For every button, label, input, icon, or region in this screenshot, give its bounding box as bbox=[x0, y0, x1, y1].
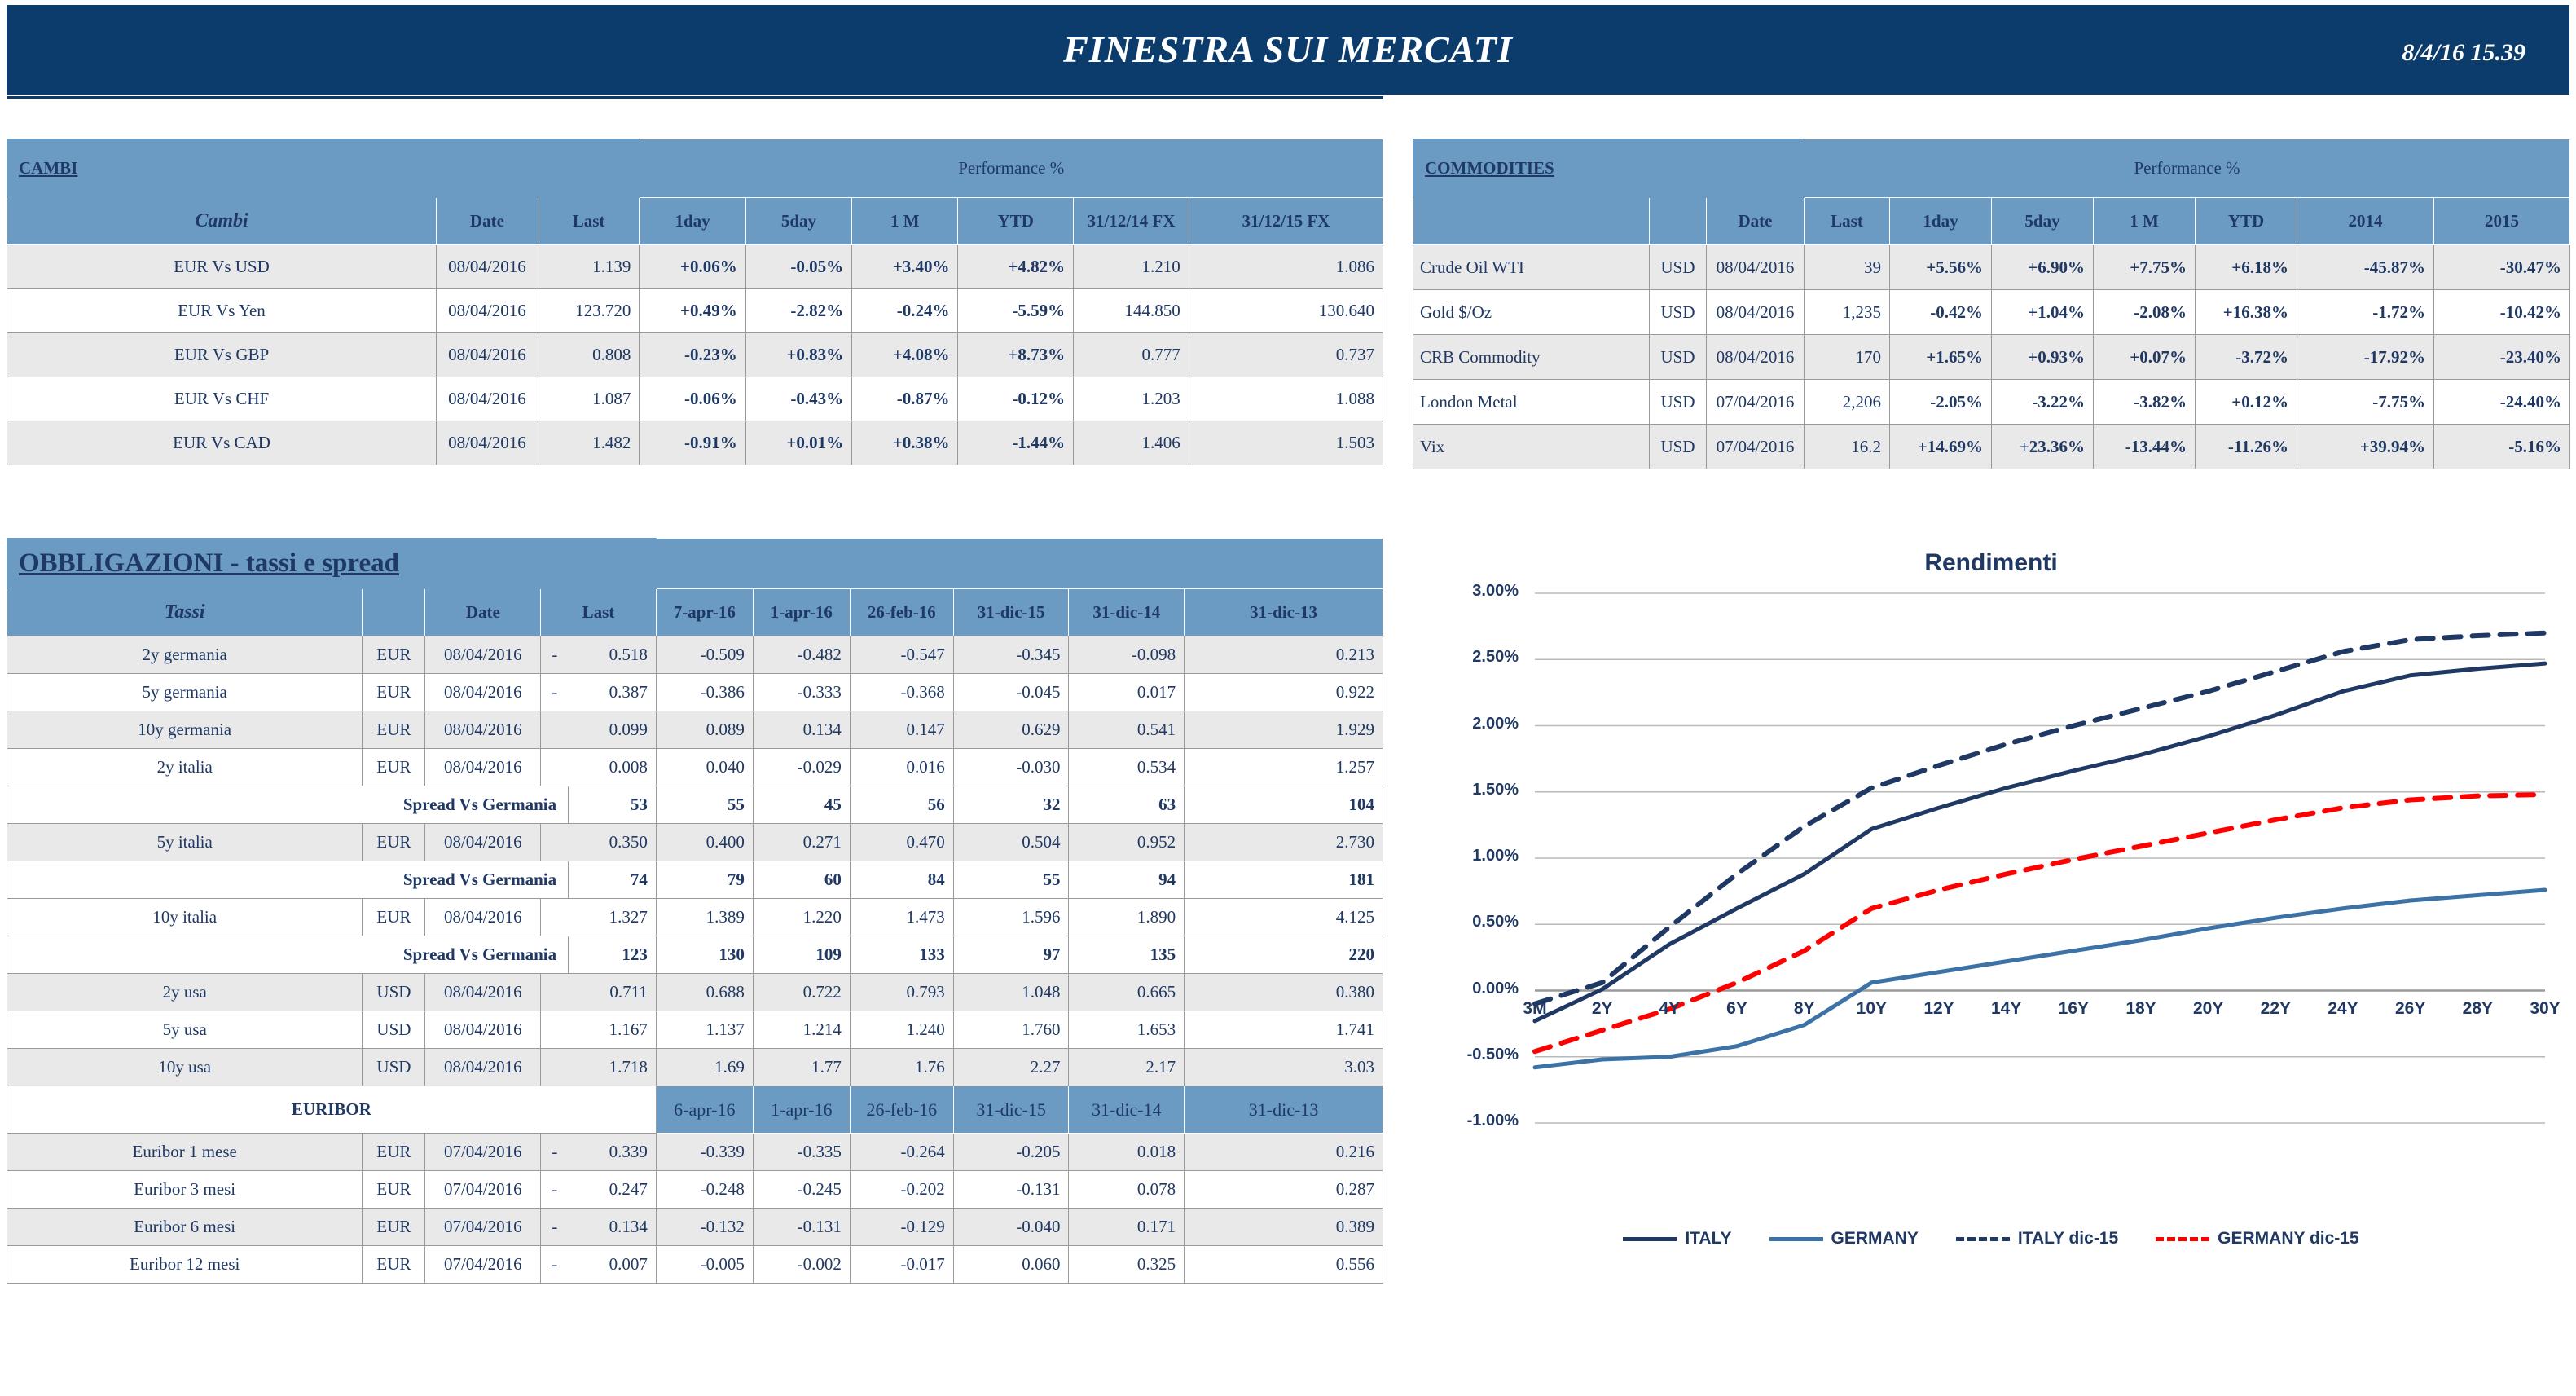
bond-name: 2y italia bbox=[7, 749, 363, 786]
bond-value-1: 0.400 bbox=[656, 824, 753, 861]
bond-value-1: 0.089 bbox=[656, 711, 753, 749]
commodities-performance-title: Performance % bbox=[1805, 139, 2570, 198]
bonds-table: OBBLIGAZIONI - tassi e spread Tassi Date… bbox=[7, 538, 1383, 1284]
bond-last: 0.387 bbox=[569, 674, 657, 711]
bond-name: 10y germania bbox=[7, 711, 363, 749]
bond-sign bbox=[541, 1049, 569, 1086]
cambi-perf-1m: +0.38% bbox=[852, 421, 958, 465]
bond-name: 10y usa bbox=[7, 1049, 363, 1086]
commodity-perf-1m: +0.07% bbox=[2094, 335, 2196, 380]
bond-value-6: 1.741 bbox=[1185, 1011, 1383, 1049]
bond-value-3: 1.240 bbox=[850, 1011, 953, 1049]
page-title: FINESTRA SUI MERCATI bbox=[8, 28, 2568, 71]
commodity-perf-5day: +1.04% bbox=[1992, 290, 2094, 335]
spread-value-1: 130 bbox=[656, 936, 753, 974]
bond-value-2: 1.214 bbox=[753, 1011, 850, 1049]
bond-value-6: 2.730 bbox=[1185, 824, 1383, 861]
spread-value-3: 84 bbox=[850, 861, 953, 899]
legend-swatch-icon bbox=[1623, 1237, 1677, 1241]
bond-value-4: 2.27 bbox=[953, 1049, 1069, 1086]
bond-value-6: 1.257 bbox=[1185, 749, 1383, 786]
table-row: Euribor 3 mesiEUR07/04/2016-0.247-0.248-… bbox=[7, 1171, 1383, 1209]
cambi-name: EUR Vs Yen bbox=[7, 289, 437, 333]
bond-value-3: 1.473 bbox=[850, 899, 953, 936]
bond-name: 5y usa bbox=[7, 1011, 363, 1049]
col-ytd: YTD bbox=[958, 198, 1074, 245]
chart-xtick: 2Y bbox=[1578, 999, 1627, 1019]
bond-value-3: 1.76 bbox=[850, 1049, 953, 1086]
euribor-value-4: -0.040 bbox=[953, 1209, 1069, 1246]
bond-date: 08/04/2016 bbox=[425, 824, 541, 861]
commodity-last: 39 bbox=[1805, 245, 1890, 290]
bond-value-4: 1.760 bbox=[953, 1011, 1069, 1049]
table-row: Euribor 1 meseEUR07/04/2016-0.339-0.339-… bbox=[7, 1134, 1383, 1171]
bond-value-5: 2.17 bbox=[1069, 1049, 1185, 1086]
commodity-perf-1day: -2.05% bbox=[1890, 380, 1992, 425]
bond-value-1: -0.509 bbox=[656, 636, 753, 674]
spread-value-4: 55 bbox=[953, 861, 1069, 899]
table-row: 2y usaUSD08/04/20160.7110.6880.7220.7931… bbox=[7, 974, 1383, 1011]
cambi-fx14: 0.777 bbox=[1074, 333, 1189, 377]
banner-divider bbox=[7, 96, 1383, 99]
bond-date: 08/04/2016 bbox=[425, 674, 541, 711]
spread-value-2: 60 bbox=[753, 861, 850, 899]
col-31dic13: 31-dic-13 bbox=[1185, 589, 1383, 636]
commodity-perf-ytd: +0.12% bbox=[2196, 380, 2297, 425]
euribor-sign: - bbox=[541, 1246, 569, 1284]
commodity-name: Vix bbox=[1413, 425, 1650, 469]
table-row: EUR Vs CAD08/04/20161.482-0.91%+0.01%+0.… bbox=[7, 421, 1383, 465]
cambi-perf-ytd: +8.73% bbox=[958, 333, 1074, 377]
bond-value-1: 1.137 bbox=[656, 1011, 753, 1049]
cambi-perf-1day: -0.91% bbox=[640, 421, 745, 465]
euribor-value-4: -0.131 bbox=[953, 1171, 1069, 1209]
commodity-perf-1m: +7.75% bbox=[2094, 245, 2196, 290]
bond-value-6: 0.922 bbox=[1185, 674, 1383, 711]
table-row: 5y italiaEUR08/04/20160.3500.4000.2710.4… bbox=[7, 824, 1383, 861]
bond-value-1: 1.69 bbox=[656, 1049, 753, 1086]
euribor-value-3: -0.129 bbox=[850, 1209, 953, 1246]
bond-value-3: 0.016 bbox=[850, 749, 953, 786]
legend-item: GERMANY bbox=[1769, 1229, 1919, 1248]
spread-last: 53 bbox=[569, 786, 657, 824]
cambi-section-title: CAMBI bbox=[7, 139, 640, 198]
bond-sign bbox=[541, 711, 569, 749]
bond-value-5: 0.665 bbox=[1069, 974, 1185, 1011]
bond-currency: EUR bbox=[363, 711, 425, 749]
euribor-value-2: -0.131 bbox=[753, 1209, 850, 1246]
bond-name: 2y germania bbox=[7, 636, 363, 674]
table-row: EUR Vs Yen08/04/2016123.720+0.49%-2.82%-… bbox=[7, 289, 1383, 333]
cambi-last: 1.087 bbox=[538, 377, 640, 421]
commodity-perf-1day: +1.65% bbox=[1890, 335, 1992, 380]
bond-value-2: -0.029 bbox=[753, 749, 850, 786]
euribor-currency: EUR bbox=[363, 1209, 425, 1246]
bond-last: 0.711 bbox=[569, 974, 657, 1011]
euribor-col-1: 6-apr-16 bbox=[656, 1086, 753, 1134]
bond-currency: USD bbox=[363, 974, 425, 1011]
commodity-currency: USD bbox=[1650, 335, 1707, 380]
commodity-last: 16.2 bbox=[1805, 425, 1890, 469]
commodity-perf-ytd: +6.18% bbox=[2196, 245, 2297, 290]
legend-swatch-icon bbox=[1956, 1237, 2010, 1241]
chart-xtick: 28Y bbox=[2453, 999, 2502, 1019]
euribor-sign: - bbox=[541, 1209, 569, 1246]
bond-date: 08/04/2016 bbox=[425, 974, 541, 1011]
bond-value-1: 0.040 bbox=[656, 749, 753, 786]
col-fx15: 31/12/15 FX bbox=[1189, 198, 1383, 245]
bond-value-5: 0.952 bbox=[1069, 824, 1185, 861]
col-5day: 5day bbox=[745, 198, 851, 245]
table-row: London MetalUSD07/04/20162,206-2.05%-3.2… bbox=[1413, 380, 2570, 425]
euribor-value-1: -0.005 bbox=[656, 1246, 753, 1284]
spread-value-3: 133 bbox=[850, 936, 953, 974]
euribor-col-5: 31-dic-14 bbox=[1069, 1086, 1185, 1134]
euribor-col-6: 31-dic-13 bbox=[1185, 1086, 1383, 1134]
commodity-name: London Metal bbox=[1413, 380, 1650, 425]
commodity-date: 07/04/2016 bbox=[1707, 425, 1805, 469]
spread-row: Spread Vs Germania535545563263104 bbox=[7, 786, 1383, 824]
cambi-name: EUR Vs GBP bbox=[7, 333, 437, 377]
commodity-perf-5day: -3.22% bbox=[1992, 380, 2094, 425]
bond-value-1: 0.688 bbox=[656, 974, 753, 1011]
spread-value-4: 97 bbox=[953, 936, 1069, 974]
commodity-perf-2014: -17.92% bbox=[2297, 335, 2434, 380]
spread-value-6: 220 bbox=[1185, 936, 1383, 974]
cambi-perf-1day: +0.49% bbox=[640, 289, 745, 333]
cambi-name: EUR Vs USD bbox=[7, 245, 437, 289]
bond-currency: EUR bbox=[363, 636, 425, 674]
chart-ytick: 2.00% bbox=[1421, 715, 1519, 733]
bond-date: 08/04/2016 bbox=[425, 636, 541, 674]
commodity-perf-2015: -24.40% bbox=[2434, 380, 2570, 425]
chart-series-italy bbox=[1535, 663, 2545, 1021]
commodity-currency: USD bbox=[1650, 245, 1707, 290]
bond-last: 1.167 bbox=[569, 1011, 657, 1049]
col-7apr16: 7-apr-16 bbox=[656, 589, 753, 636]
chart-series-italy-dic-15 bbox=[1535, 633, 2545, 1004]
bond-value-5: 0.534 bbox=[1069, 749, 1185, 786]
bond-value-4: 0.504 bbox=[953, 824, 1069, 861]
col-5day: 5day bbox=[1992, 198, 2094, 245]
spread-value-3: 56 bbox=[850, 786, 953, 824]
spread-label: Spread Vs Germania bbox=[7, 936, 569, 974]
bond-value-2: 0.271 bbox=[753, 824, 850, 861]
bond-date: 08/04/2016 bbox=[425, 711, 541, 749]
euribor-value-1: -0.339 bbox=[656, 1134, 753, 1171]
cambi-fx14: 1.203 bbox=[1074, 377, 1189, 421]
table-row: Euribor 12 mesiEUR07/04/2016-0.007-0.005… bbox=[7, 1246, 1383, 1284]
title-banner: FINESTRA SUI MERCATI 8/4/16 15.39 bbox=[7, 5, 2569, 95]
spread-value-2: 45 bbox=[753, 786, 850, 824]
bond-value-5: 1.653 bbox=[1069, 1011, 1185, 1049]
cambi-perf-1day: -0.23% bbox=[640, 333, 745, 377]
col-26feb16: 26-feb-16 bbox=[850, 589, 953, 636]
col-2014: 2014 bbox=[2297, 198, 2434, 245]
euribor-col-4: 31-dic-15 bbox=[953, 1086, 1069, 1134]
cambi-date: 08/04/2016 bbox=[437, 421, 538, 465]
cambi-last: 1.139 bbox=[538, 245, 640, 289]
commodity-perf-1m: -3.82% bbox=[2094, 380, 2196, 425]
col-last: Last bbox=[1805, 198, 1890, 245]
chart-xtick: 4Y bbox=[1645, 999, 1694, 1019]
euribor-value-3: -0.202 bbox=[850, 1171, 953, 1209]
cambi-name: EUR Vs CHF bbox=[7, 377, 437, 421]
bond-sign bbox=[541, 824, 569, 861]
chart-xtick: 26Y bbox=[2386, 999, 2435, 1019]
chart-ytick: 0.00% bbox=[1421, 980, 1519, 998]
cambi-fx15: 1.503 bbox=[1189, 421, 1383, 465]
chart-ytick: -1.00% bbox=[1421, 1112, 1519, 1130]
euribor-date: 07/04/2016 bbox=[425, 1171, 541, 1209]
spread-value-5: 94 bbox=[1069, 861, 1185, 899]
commodity-perf-1day: -0.42% bbox=[1890, 290, 1992, 335]
commodity-date: 08/04/2016 bbox=[1707, 245, 1805, 290]
spread-last: 74 bbox=[569, 861, 657, 899]
chart-ytick: 1.50% bbox=[1421, 781, 1519, 799]
bond-value-6: 3.03 bbox=[1185, 1049, 1383, 1086]
spread-label: Spread Vs Germania bbox=[7, 861, 569, 899]
commodity-perf-5day: +23.36% bbox=[1992, 425, 2094, 469]
euribor-value-6: 0.287 bbox=[1185, 1171, 1383, 1209]
cambi-perf-ytd: +4.82% bbox=[958, 245, 1074, 289]
bond-date: 08/04/2016 bbox=[425, 899, 541, 936]
bond-value-1: -0.386 bbox=[656, 674, 753, 711]
euribor-value-3: -0.264 bbox=[850, 1134, 953, 1171]
cambi-last: 0.808 bbox=[538, 333, 640, 377]
chart-legend: ITALYGERMANYITALY dic-15GERMANY dic-15 bbox=[1413, 1229, 2569, 1248]
legend-label: GERMANY dic-15 bbox=[2218, 1229, 2359, 1248]
bond-value-6: 4.125 bbox=[1185, 899, 1383, 936]
spread-label: Spread Vs Germania bbox=[7, 786, 569, 824]
euribor-name: Euribor 6 mesi bbox=[7, 1209, 363, 1246]
chart-svg bbox=[1413, 577, 2569, 1221]
bonds-section-title: OBBLIGAZIONI - tassi e spread bbox=[7, 539, 657, 589]
euribor-col-3: 26-feb-16 bbox=[850, 1086, 953, 1134]
table-row: EUR Vs GBP08/04/20160.808-0.23%+0.83%+4.… bbox=[7, 333, 1383, 377]
bond-currency: USD bbox=[363, 1011, 425, 1049]
bonds-column-headers: Tassi Date Last 7-apr-16 1-apr-16 26-feb… bbox=[7, 589, 1383, 636]
cambi-perf-5day: -0.43% bbox=[745, 377, 851, 421]
spread-value-2: 109 bbox=[753, 936, 850, 974]
col-date: Date bbox=[1707, 198, 1805, 245]
bond-value-6: 0.213 bbox=[1185, 636, 1383, 674]
bond-value-4: 1.048 bbox=[953, 974, 1069, 1011]
euribor-date: 07/04/2016 bbox=[425, 1246, 541, 1284]
legend-label: GERMANY bbox=[1831, 1229, 1919, 1248]
euribor-last: 0.134 bbox=[569, 1209, 657, 1246]
commodity-date: 07/04/2016 bbox=[1707, 380, 1805, 425]
cambi-table: CAMBI Performance % Cambi Date Last 1day… bbox=[7, 139, 1383, 465]
bond-currency: EUR bbox=[363, 749, 425, 786]
bond-last: 1.327 bbox=[569, 899, 657, 936]
col-1day: 1day bbox=[640, 198, 745, 245]
col-currency bbox=[363, 589, 425, 636]
table-row: 2y germaniaEUR08/04/2016-0.518-0.509-0.4… bbox=[7, 636, 1383, 674]
cambi-date: 08/04/2016 bbox=[437, 333, 538, 377]
euribor-last: 0.007 bbox=[569, 1246, 657, 1284]
bond-value-4: -0.345 bbox=[953, 636, 1069, 674]
commodity-currency: USD bbox=[1650, 290, 1707, 335]
euribor-name: Euribor 12 mesi bbox=[7, 1246, 363, 1284]
cambi-fx14: 1.210 bbox=[1074, 245, 1189, 289]
col-1apr16: 1-apr-16 bbox=[753, 589, 850, 636]
col-blank2 bbox=[1650, 198, 1707, 245]
commodity-perf-2015: -23.40% bbox=[2434, 335, 2570, 380]
euribor-value-6: 0.556 bbox=[1185, 1246, 1383, 1284]
commodity-perf-5day: +0.93% bbox=[1992, 335, 2094, 380]
bond-value-2: 1.220 bbox=[753, 899, 850, 936]
bond-value-4: 1.596 bbox=[953, 899, 1069, 936]
euribor-currency: EUR bbox=[363, 1171, 425, 1209]
bond-name: 10y italia bbox=[7, 899, 363, 936]
table-row: Gold $/OzUSD08/04/20161,235-0.42%+1.04%-… bbox=[1413, 290, 2570, 335]
bond-value-2: 0.722 bbox=[753, 974, 850, 1011]
cambi-perf-1day: +0.06% bbox=[640, 245, 745, 289]
spread-row: Spread Vs Germania747960845594181 bbox=[7, 861, 1383, 899]
col-blank1 bbox=[1413, 198, 1650, 245]
bond-value-2: 0.134 bbox=[753, 711, 850, 749]
commodity-perf-2014: -7.75% bbox=[2297, 380, 2434, 425]
commodity-perf-ytd: -3.72% bbox=[2196, 335, 2297, 380]
euribor-name: Euribor 3 mesi bbox=[7, 1171, 363, 1209]
legend-label: ITALY dic-15 bbox=[2018, 1229, 2118, 1248]
legend-item: ITALY bbox=[1623, 1229, 1731, 1248]
cambi-perf-1m: -0.87% bbox=[852, 377, 958, 421]
commodity-perf-2014: -1.72% bbox=[2297, 290, 2434, 335]
cambi-fx15: 1.088 bbox=[1189, 377, 1383, 421]
spread-last: 123 bbox=[569, 936, 657, 974]
chart-ytick: 3.00% bbox=[1421, 582, 1519, 601]
spread-value-1: 79 bbox=[656, 861, 753, 899]
commodity-perf-1day: +14.69% bbox=[1890, 425, 1992, 469]
cambi-fx14: 1.406 bbox=[1074, 421, 1189, 465]
bond-last: 0.518 bbox=[569, 636, 657, 674]
commodity-perf-5day: +6.90% bbox=[1992, 245, 2094, 290]
bond-name: 5y italia bbox=[7, 824, 363, 861]
cambi-perf-ytd: -1.44% bbox=[958, 421, 1074, 465]
bond-value-3: -0.368 bbox=[850, 674, 953, 711]
col-31dic15: 31-dic-15 bbox=[953, 589, 1069, 636]
bond-last: 0.099 bbox=[569, 711, 657, 749]
col-last: Last bbox=[541, 589, 657, 636]
bond-value-6: 0.380 bbox=[1185, 974, 1383, 1011]
commodity-perf-2015: -10.42% bbox=[2434, 290, 2570, 335]
bond-date: 08/04/2016 bbox=[425, 1011, 541, 1049]
bond-sign: - bbox=[541, 636, 569, 674]
bond-value-5: 0.541 bbox=[1069, 711, 1185, 749]
table-row: Euribor 6 mesiEUR07/04/2016-0.134-0.132-… bbox=[7, 1209, 1383, 1246]
cambi-perf-5day: +0.01% bbox=[745, 421, 851, 465]
commodity-perf-ytd: +16.38% bbox=[2196, 290, 2297, 335]
chart-xtick: 20Y bbox=[2184, 999, 2233, 1019]
commodity-currency: USD bbox=[1650, 380, 1707, 425]
bond-sign: - bbox=[541, 674, 569, 711]
euribor-value-5: 0.171 bbox=[1069, 1209, 1185, 1246]
col-last: Last bbox=[538, 198, 640, 245]
table-row: Crude Oil WTIUSD08/04/201639+5.56%+6.90%… bbox=[1413, 245, 2570, 290]
col-31dic14: 31-dic-14 bbox=[1069, 589, 1185, 636]
cambi-date: 08/04/2016 bbox=[437, 377, 538, 421]
bond-value-3: 0.793 bbox=[850, 974, 953, 1011]
col-2015: 2015 bbox=[2434, 198, 2570, 245]
euribor-value-5: 0.325 bbox=[1069, 1246, 1185, 1284]
legend-swatch-icon bbox=[2156, 1237, 2209, 1241]
cambi-fx15: 130.640 bbox=[1189, 289, 1383, 333]
cambi-perf-ytd: -5.59% bbox=[958, 289, 1074, 333]
bond-sign bbox=[541, 749, 569, 786]
commodities-column-headers: Date Last 1day 5day 1 M YTD 2014 2015 bbox=[1413, 198, 2570, 245]
cambi-perf-1m: +4.08% bbox=[852, 333, 958, 377]
euribor-value-6: 0.216 bbox=[1185, 1134, 1383, 1171]
euribor-value-4: -0.205 bbox=[953, 1134, 1069, 1171]
chart-xtick: 22Y bbox=[2251, 999, 2300, 1019]
col-ytd: YTD bbox=[2196, 198, 2297, 245]
bond-value-4: -0.030 bbox=[953, 749, 1069, 786]
bond-date: 08/04/2016 bbox=[425, 1049, 541, 1086]
bonds-header-spacer bbox=[656, 539, 1383, 589]
legend-item: GERMANY dic-15 bbox=[2156, 1229, 2359, 1248]
bond-sign bbox=[541, 899, 569, 936]
commodity-name: CRB Commodity bbox=[1413, 335, 1650, 380]
commodity-last: 1,235 bbox=[1805, 290, 1890, 335]
chart-xtick: 14Y bbox=[1982, 999, 2031, 1019]
chart-xtick: 16Y bbox=[2049, 999, 2098, 1019]
euribor-title: EURIBOR bbox=[7, 1086, 657, 1134]
spread-row: Spread Vs Germania12313010913397135220 bbox=[7, 936, 1383, 974]
cambi-date: 08/04/2016 bbox=[437, 245, 538, 289]
bond-last: 1.718 bbox=[569, 1049, 657, 1086]
chart-xtick: 12Y bbox=[1914, 999, 1963, 1019]
euribor-sign: - bbox=[541, 1134, 569, 1171]
euribor-value-5: 0.018 bbox=[1069, 1134, 1185, 1171]
commodities-table: COMMODITIES Performance % Date Last 1day… bbox=[1413, 139, 2570, 469]
bond-name: 2y usa bbox=[7, 974, 363, 1011]
euribor-header-row: EURIBOR6-apr-161-apr-1626-feb-1631-dic-1… bbox=[7, 1086, 1383, 1134]
commodity-perf-1day: +5.56% bbox=[1890, 245, 1992, 290]
cambi-column-headers: Cambi Date Last 1day 5day 1 M YTD 31/12/… bbox=[7, 198, 1383, 245]
col-date: Date bbox=[437, 198, 538, 245]
euribor-value-5: 0.078 bbox=[1069, 1171, 1185, 1209]
commodity-perf-1m: -2.08% bbox=[2094, 290, 2196, 335]
commodity-name: Gold $/Oz bbox=[1413, 290, 1650, 335]
spread-value-5: 135 bbox=[1069, 936, 1185, 974]
cambi-perf-1m: -0.24% bbox=[852, 289, 958, 333]
chart-xtick: 3M bbox=[1510, 999, 1559, 1019]
bond-currency: USD bbox=[363, 1049, 425, 1086]
chart-plot-area: 3.00%2.50%2.00%1.50%1.00%0.50%0.00%-0.50… bbox=[1413, 577, 2569, 1294]
commodity-currency: USD bbox=[1650, 425, 1707, 469]
cambi-date: 08/04/2016 bbox=[437, 289, 538, 333]
commodity-date: 08/04/2016 bbox=[1707, 290, 1805, 335]
euribor-value-2: -0.335 bbox=[753, 1134, 850, 1171]
bond-currency: EUR bbox=[363, 824, 425, 861]
chart-xtick: 30Y bbox=[2521, 999, 2569, 1019]
euribor-col-2: 1-apr-16 bbox=[753, 1086, 850, 1134]
euribor-value-1: -0.248 bbox=[656, 1171, 753, 1209]
bond-currency: EUR bbox=[363, 899, 425, 936]
cambi-perf-ytd: -0.12% bbox=[958, 377, 1074, 421]
table-row: VixUSD07/04/201616.2+14.69%+23.36%-13.44… bbox=[1413, 425, 2570, 469]
euribor-last: 0.247 bbox=[569, 1171, 657, 1209]
cambi-last: 123.720 bbox=[538, 289, 640, 333]
col-tassi: Tassi bbox=[7, 589, 363, 636]
cambi-perf-5day: -2.82% bbox=[745, 289, 851, 333]
timestamp: 8/4/16 15.39 bbox=[2402, 39, 2525, 67]
bond-value-1: 1.389 bbox=[656, 899, 753, 936]
euribor-value-1: -0.132 bbox=[656, 1209, 753, 1246]
bond-value-3: 0.470 bbox=[850, 824, 953, 861]
